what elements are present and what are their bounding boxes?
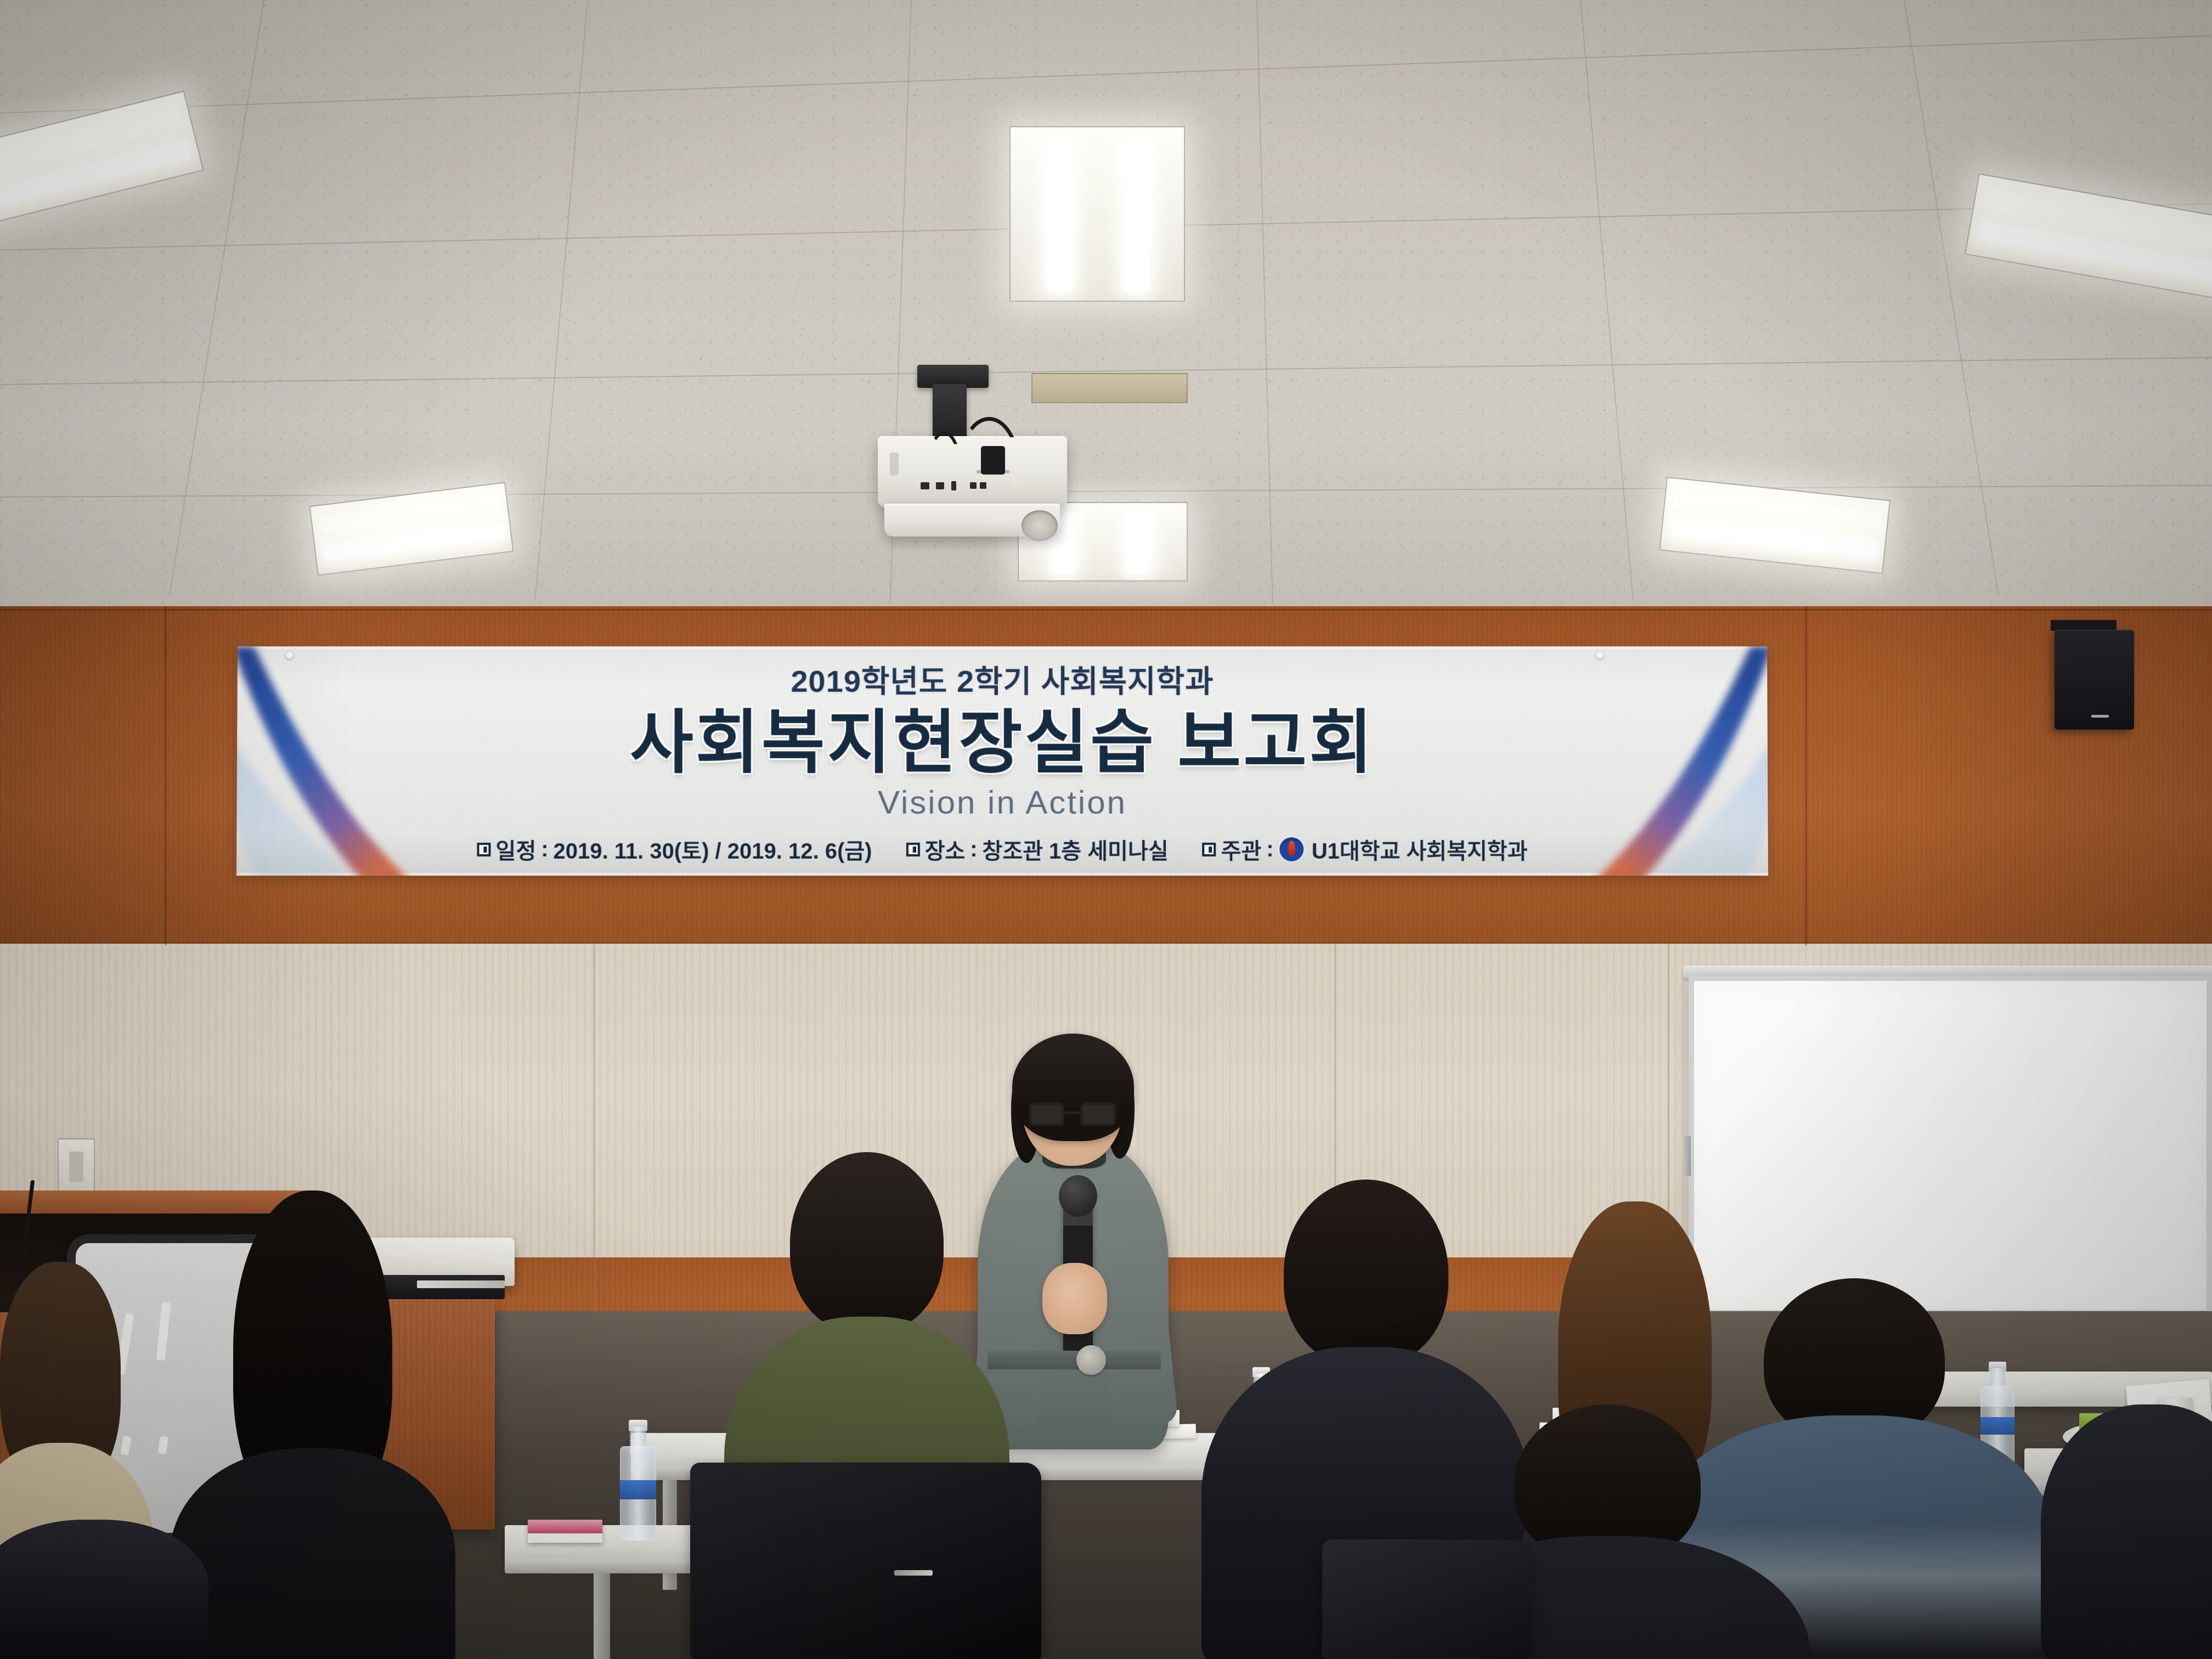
water-bottle[interactable] xyxy=(620,1420,656,1541)
projector-port xyxy=(921,482,929,489)
ceiling xyxy=(0,0,2212,609)
wall-panel-joint xyxy=(594,944,595,1312)
jacket-zipper xyxy=(894,1570,933,1576)
banner-schedule-label: 일정 xyxy=(495,833,536,865)
banner-title: 사회복지현장실습 보고회 xyxy=(630,708,1375,778)
projector-indicator xyxy=(1013,475,1023,484)
fluorescent-tube xyxy=(1124,139,1150,292)
chair-back-slot xyxy=(158,1436,168,1454)
banner-grommet xyxy=(1595,651,1604,659)
banner-info-venue: 장소 : 창조관 1층 세미나실 xyxy=(906,833,1169,865)
u1-university-logo-icon xyxy=(1280,837,1304,861)
banner-schedule-value: 2019. 11. 30(토) / 2019. 12. 6(금) xyxy=(554,833,872,865)
square-bullet-icon xyxy=(1203,843,1216,856)
microphone-head xyxy=(1059,1175,1097,1217)
eyeglass-lens-right xyxy=(1081,1103,1116,1126)
audience-body xyxy=(170,1448,455,1659)
banner-info-row: 일정 : 2019. 11. 30(토) / 2019. 12. 6(금) 장소… xyxy=(477,833,1527,865)
banner-subtitle: Vision in Action xyxy=(878,783,1127,821)
banner-schedule-separator: : xyxy=(541,837,548,862)
table-leg xyxy=(594,1573,610,1659)
banner-venue-label: 장소 xyxy=(925,833,966,865)
presenter-belt xyxy=(988,1351,1161,1369)
eyeglass-lens-left xyxy=(1029,1103,1064,1126)
wall-panel-joint xyxy=(1805,606,1807,945)
presenter-hands xyxy=(1042,1263,1107,1334)
chair-back-slot xyxy=(156,1302,171,1361)
whiteboard-hinge xyxy=(1683,1136,1691,1176)
speaker-bracket xyxy=(2051,620,2117,631)
eyeglass-bridge xyxy=(1064,1111,1081,1114)
bottle-label xyxy=(620,1480,656,1499)
wall-seam xyxy=(0,609,2212,611)
light-reflector xyxy=(1011,127,1184,301)
projector-port xyxy=(980,482,986,489)
seminar-room-photo: 2019학년도 2학기 사회복지학과 사회복지현장실습 보고회 Vision i… xyxy=(0,0,2212,1659)
banner-organizer-separator: : xyxy=(1266,837,1273,862)
square-bullet-icon xyxy=(906,843,920,856)
presenter-belt-buckle xyxy=(1076,1345,1106,1375)
audience-foreground-left xyxy=(0,1520,208,1659)
audience-body xyxy=(2041,1404,2212,1659)
banner-venue-separator: : xyxy=(970,837,977,862)
audience-far-right-dark xyxy=(2041,1404,2212,1659)
projector-port xyxy=(936,482,944,489)
event-banner: 2019학년도 2학기 사회복지학과 사회복지현장실습 보고회 Vision i… xyxy=(236,646,1768,876)
banner-grommet xyxy=(285,651,294,659)
projector-port xyxy=(951,481,956,490)
projector-lens xyxy=(1022,510,1058,541)
audience-head xyxy=(1284,1180,1448,1366)
fluorescent-tube xyxy=(1126,512,1150,573)
banner-top-line: 2019학년도 2학기 사회복지학과 xyxy=(791,657,1214,701)
ceiling-light-top-center xyxy=(1009,126,1185,302)
projector-port xyxy=(890,453,899,476)
jacket-on-chair[interactable] xyxy=(1322,1539,1531,1659)
square-bullet-icon xyxy=(477,843,491,856)
presenter-eyeglasses-icon xyxy=(1029,1103,1116,1126)
wall-outlet-plate[interactable] xyxy=(58,1138,95,1195)
projector-port xyxy=(970,482,977,489)
audience-body xyxy=(0,1520,208,1659)
banner-info-organizer: 주관 : U1대학교 사회복지학과 xyxy=(1203,833,1528,865)
wall-panel-joint xyxy=(165,606,167,945)
jacket-on-chair[interactable] xyxy=(690,1463,1041,1659)
book[interactable] xyxy=(528,1520,602,1543)
banner-organizer-value: U1대학교 사회복지학과 xyxy=(1312,833,1528,865)
banner-info-schedule: 일정 : 2019. 11. 30(토) / 2019. 12. 6(금) xyxy=(477,833,872,865)
whiteboard[interactable] xyxy=(1689,975,2212,1316)
banner-organizer-label: 주관 xyxy=(1221,833,1262,865)
wall-speaker xyxy=(2055,630,2134,730)
fluorescent-tube xyxy=(1047,139,1073,292)
banner-venue-value: 창조관 1층 세미나실 xyxy=(983,833,1169,865)
audience-front-left-long-hair xyxy=(170,1190,455,1659)
audience-head xyxy=(790,1152,944,1333)
ceiling-access-plate xyxy=(1031,373,1188,403)
